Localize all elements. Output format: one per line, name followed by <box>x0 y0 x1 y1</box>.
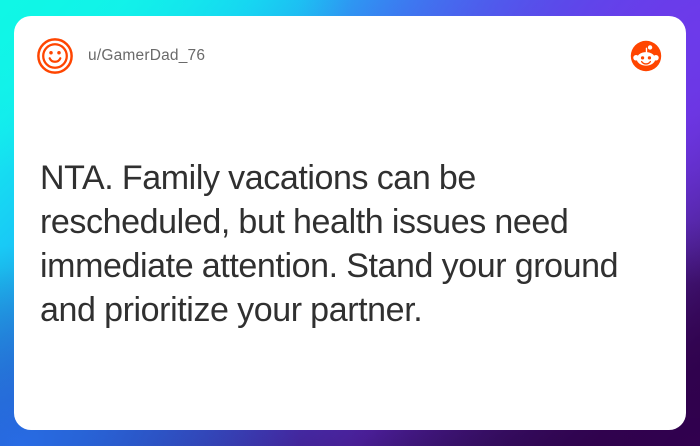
screenshot-root: u/GamerDad_76 <box>0 0 700 446</box>
comment-text: NTA. Family vacations can be rescheduled… <box>40 156 660 332</box>
smiley-face-icon[interactable] <box>36 37 74 75</box>
reddit-comment-card: u/GamerDad_76 <box>14 16 686 430</box>
author-username[interactable]: u/GamerDad_76 <box>88 47 205 65</box>
card-body: NTA. Family vacations can be rescheduled… <box>40 156 660 332</box>
card-header: u/GamerDad_76 <box>14 16 686 96</box>
reddit-snoo-icon[interactable] <box>630 40 662 72</box>
